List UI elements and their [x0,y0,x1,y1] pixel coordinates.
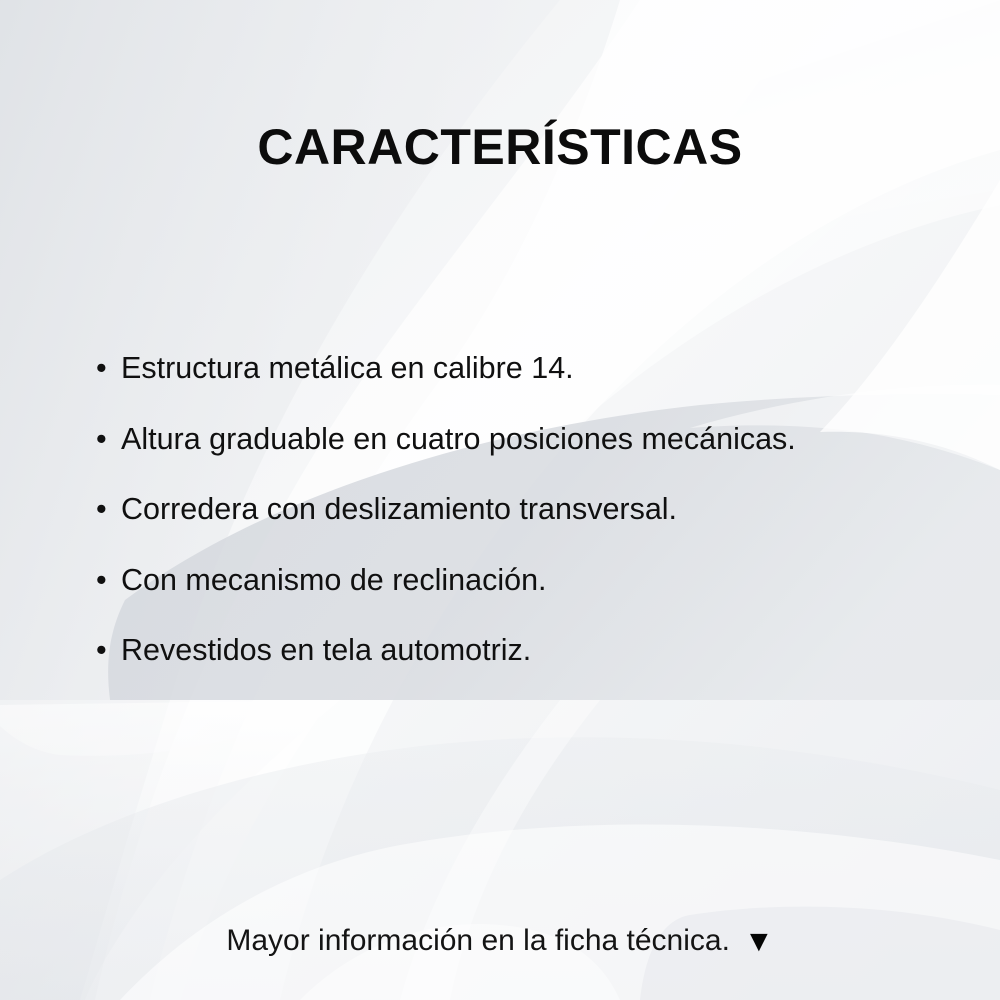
list-item-label: Corredera con deslizamiento transversal. [121,491,677,527]
bullet-icon: • [96,632,121,668]
list-item: • Corredera con deslizamiento transversa… [96,491,956,562]
list-item: • Revestidos en tela automotriz. [96,632,956,703]
list-item: • Estructura metálica en calibre 14. [96,350,956,421]
bullet-icon: • [96,350,121,386]
list-item-label: Revestidos en tela automotriz. [121,632,531,668]
list-item: • Altura graduable en cuatro posiciones … [96,421,956,492]
list-item: • Con mecanismo de reclinación. [96,562,956,633]
slide-content: CARACTERÍSTICAS • Estructura metálica en… [0,0,1000,1000]
list-item-label: Con mecanismo de reclinación. [121,562,547,598]
list-item-label: Estructura metálica en calibre 14. [121,350,574,386]
footer-label: Mayor información en la ficha técnica. [226,924,730,957]
footer-note: Mayor información en la ficha técnica.▼ [0,921,1000,961]
list-item-label: Altura graduable en cuatro posiciones me… [121,421,796,457]
bullet-icon: • [96,562,121,598]
triangle-down-icon: ▼ [744,922,774,962]
page-title: CARACTERÍSTICAS [0,118,1000,176]
bullet-icon: • [96,491,121,527]
characteristics-slide: CARACTERÍSTICAS • Estructura metálica en… [0,0,1000,1000]
bullet-icon: • [96,421,121,457]
features-list: • Estructura metálica en calibre 14. • A… [96,350,956,703]
